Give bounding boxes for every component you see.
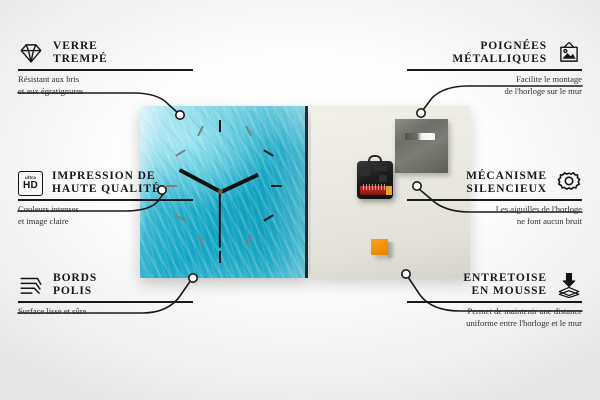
feature-rule: [18, 301, 193, 302]
diamond-icon: [18, 40, 44, 66]
wall-hanger-frame-icon: [556, 40, 582, 66]
hanger-plate: [395, 119, 448, 173]
feature-entretoise-en-mousse[interactable]: ENTRETOISE EN MOUSSE Permet de maintenir…: [396, 272, 582, 329]
feature-verre-trempe[interactable]: VERRE TREMPÉ Résistant aux bris et aux é…: [18, 40, 204, 97]
tick-3: [271, 185, 282, 187]
feature-mecanisme-silencieux[interactable]: MÉCANISME SILENCIEUX Les aiguilles de l'…: [396, 170, 582, 227]
feature-rule: [407, 301, 582, 302]
foam-spacer: [371, 239, 388, 255]
battery-label: [363, 184, 385, 190]
foam-spacer-icon: [556, 272, 582, 298]
feature-rule: [407, 199, 582, 200]
ultra-hd-icon: ultra HD: [18, 171, 43, 196]
clock-mechanism: [357, 161, 393, 199]
hanger-slot: [405, 133, 435, 140]
feature-bords-polis[interactable]: BORDS POLIS Surface lisse et sûre: [18, 272, 204, 318]
feature-title-line2: HAUTE QUALITÉ: [52, 183, 161, 196]
tick-10: [175, 149, 185, 156]
tick-12: [219, 120, 221, 132]
feature-title-line1: VERRE: [53, 40, 108, 53]
tick-7: [197, 235, 204, 246]
feature-description: Permet de maintenir une distance uniform…: [396, 306, 582, 329]
feature-title-line2: EN MOUSSE: [463, 285, 547, 298]
feature-title-line2: MÉTALLIQUES: [452, 53, 547, 66]
gear-icon: [556, 170, 582, 196]
battery-plus-terminal: [386, 186, 392, 195]
mechanism-detail-a: [361, 167, 370, 176]
tick-4: [263, 214, 273, 221]
infographic-canvas: VERRE TREMPÉ Résistant aux bris et aux é…: [0, 0, 600, 400]
feature-description: Résistant aux bris et aux égratignures: [18, 74, 204, 97]
feature-title-line2: POLIS: [53, 285, 97, 298]
hour-hand: [220, 173, 259, 194]
feature-description: Couleurs intenses et image claire: [18, 204, 204, 227]
mechanism-hanger-loop: [368, 155, 382, 164]
feature-impression-haute-qualite[interactable]: ultra HD IMPRESSION DE HAUTE QUALITÉ Cou…: [18, 170, 204, 227]
tick-1: [245, 126, 252, 137]
feature-description: Facilite le montage de l'horloge sur le …: [396, 74, 582, 97]
mechanism-detail-c: [379, 175, 387, 182]
tick-11: [197, 126, 204, 137]
tick-6: [219, 251, 221, 263]
feature-title-line1: POIGNÉES: [452, 40, 547, 53]
feature-title-line1: MÉCANISME: [466, 170, 547, 183]
tick-5: [245, 235, 252, 246]
polished-edge-icon: [18, 272, 44, 298]
mechanism-detail-b: [374, 166, 387, 171]
feature-description: Surface lisse et sûre: [18, 306, 204, 318]
feature-title-line1: IMPRESSION DE: [52, 170, 161, 183]
feature-description: Les aiguilles de l'horloge ne font aucun…: [396, 204, 582, 227]
second-hand: [219, 192, 221, 248]
hand-center-cap: [218, 189, 223, 194]
feature-title-line2: TREMPÉ: [53, 53, 108, 66]
feature-rule: [407, 69, 582, 70]
feature-title-line2: SILENCIEUX: [466, 183, 547, 196]
feature-poignees-metalliques[interactable]: POIGNÉES MÉTALLIQUES Facilite le montage…: [396, 40, 582, 97]
ultra-hd-icon-large-text: HD: [23, 181, 38, 191]
feature-title-line1: BORDS: [53, 272, 97, 285]
feature-title-line1: ENTRETOISE: [463, 272, 547, 285]
feature-rule: [18, 69, 193, 70]
feature-rule: [18, 199, 193, 200]
tick-2: [263, 149, 273, 156]
